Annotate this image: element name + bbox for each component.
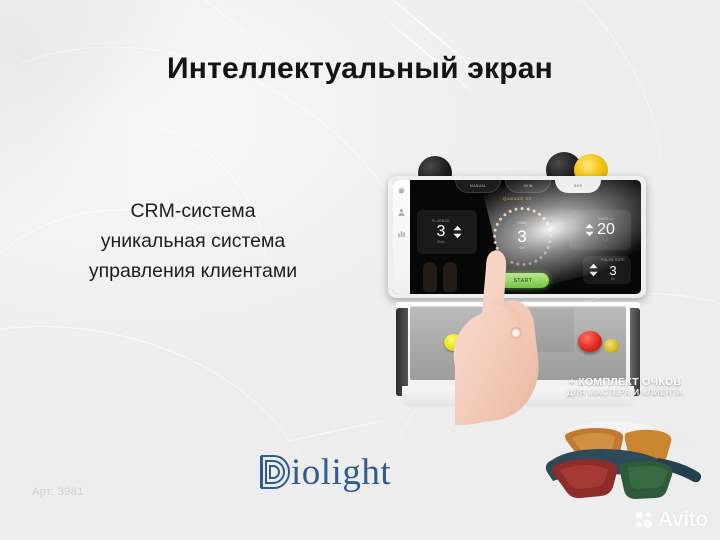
energy-unit: J	[605, 239, 607, 242]
fluence-stepper[interactable]	[453, 225, 462, 239]
mode-label: Quantum X3	[393, 196, 641, 201]
feature-line-2: уникальная система	[38, 226, 348, 256]
avito-dots-icon	[634, 510, 654, 530]
brand-logo: iolight	[258, 452, 391, 492]
timer-value: 3	[517, 228, 526, 245]
screen-tab-bar[interactable]: manual skin sos	[455, 180, 601, 193]
diolight-d-icon	[258, 452, 292, 492]
tab-skin[interactable]: skin	[505, 180, 551, 193]
pulse-rate-unit: Hz	[611, 278, 615, 281]
pulse-rate-caption: PULSE RATE	[601, 259, 625, 262]
pulse-rate-stepper[interactable]	[589, 263, 598, 277]
energy-value: 20	[597, 222, 615, 238]
timer-caption: TIME	[517, 222, 527, 226]
article-number: Арт: 3981	[32, 486, 84, 498]
settings-icon[interactable]	[397, 187, 406, 196]
chevron-up-icon[interactable]	[585, 223, 594, 229]
energy-card[interactable]: ENERGY 20 J	[569, 210, 631, 250]
glasses-promo-text: + КОМПЛЕКТ ОЧКОВ ДЛЯ МАСТЕРА И КЛИЕНТА	[540, 376, 710, 398]
avito-wordmark: Avito	[658, 508, 708, 532]
feature-description: CRM-система уникальная система управлени…	[38, 196, 348, 286]
chart-icon[interactable]	[397, 229, 406, 238]
fluence-unit: J/cm²	[437, 241, 445, 244]
glasses-promo-line-2: ДЛЯ МАСТЕРА И КЛИЕНТА	[540, 388, 710, 398]
key-switch[interactable]	[604, 339, 619, 353]
chevron-down-icon[interactable]	[453, 233, 462, 239]
user-icon[interactable]	[397, 208, 406, 217]
tab-sos[interactable]: sos	[555, 180, 601, 193]
chevron-up-icon[interactable]	[589, 263, 598, 269]
fluence-value: 3	[437, 224, 446, 240]
device-body-left-edge	[396, 308, 408, 396]
chevron-down-icon[interactable]	[589, 271, 598, 277]
pulse-rate-value: 3	[609, 264, 616, 277]
pulse-rate-card[interactable]: PULSE RATE 3 Hz	[583, 256, 631, 284]
emergency-stop-button[interactable]	[578, 331, 602, 352]
avito-watermark: Avito	[634, 508, 708, 532]
brand-wordmark: iolight	[291, 454, 391, 491]
feature-line-3: управления клиентами	[38, 256, 348, 286]
feature-line-1: CRM-система	[38, 196, 348, 226]
page-title: Интеллектуальный экран	[0, 52, 720, 86]
safety-glasses-graphic	[528, 408, 716, 504]
chevron-up-icon[interactable]	[453, 225, 462, 231]
hand-pointing-graphic	[438, 245, 558, 425]
promo-image: Интеллектуальный экран CRM-система уника…	[0, 0, 720, 540]
tab-manual[interactable]: manual	[455, 180, 501, 193]
energy-stepper[interactable]	[585, 223, 594, 237]
chevron-down-icon[interactable]	[585, 231, 594, 237]
